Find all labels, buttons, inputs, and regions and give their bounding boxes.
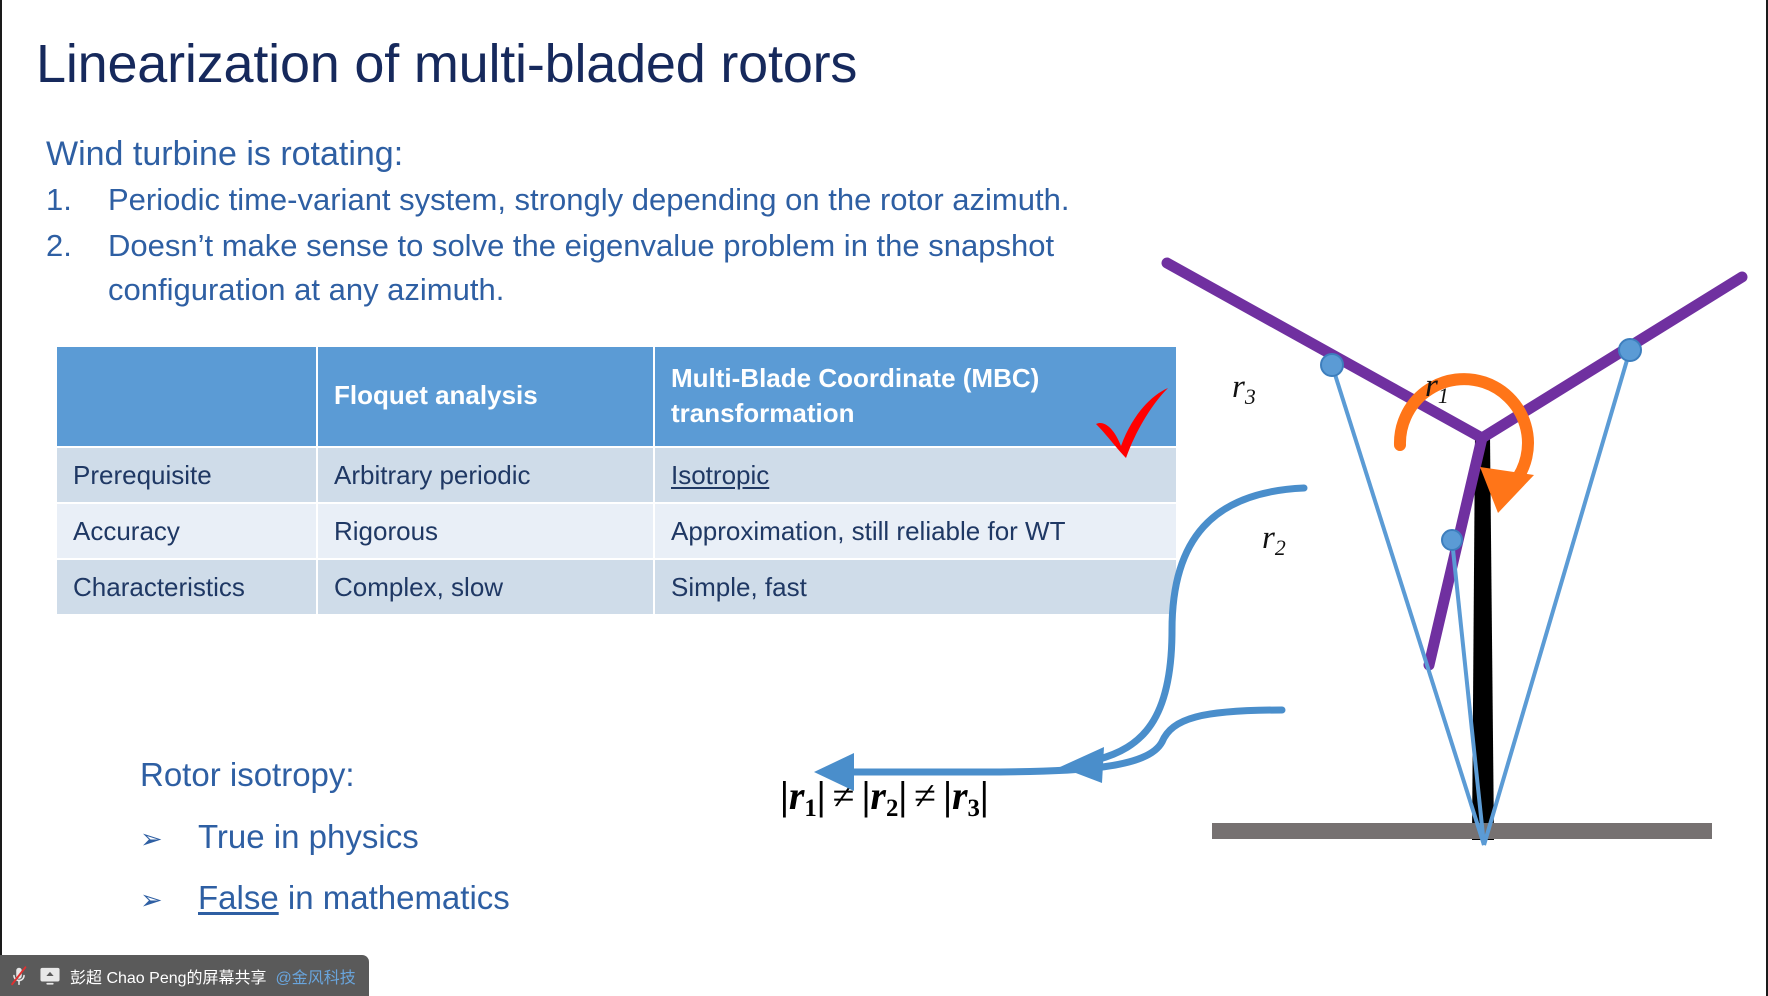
arrow-bullet-icon: ➢ (140, 823, 198, 855)
numbered-item-text: Periodic time-variant system, strongly d… (108, 178, 1156, 222)
numbered-item-text: Doesn’t make sense to solve the eigenval… (108, 224, 1156, 312)
page-title: Linearization of multi-bladed rotors (36, 36, 857, 93)
table-header-corner (57, 347, 316, 446)
blade-3 (1167, 263, 1482, 438)
table-cell-floquet: Complex, slow (318, 560, 653, 614)
slide-canvas: Linearization of multi-bladed rotors Win… (0, 0, 1768, 996)
table-cell-mbc-text: Isotropic (671, 460, 769, 490)
table-cell-floquet: Arbitrary periodic (318, 448, 653, 502)
screen-share-icon[interactable] (39, 966, 61, 986)
share-org-label: @金风科技 (276, 964, 356, 988)
table-cell-floquet: Rigorous (318, 504, 653, 558)
intro-block: Wind turbine is rotating: 1. Periodic ti… (46, 133, 1156, 312)
unused (1482, 275, 1490, 438)
turbine-svg (1142, 245, 1762, 885)
numbered-item-number: 1. (46, 178, 108, 222)
table-header-row: Floquet analysis Multi-Blade Coordinate … (57, 347, 1176, 446)
diagram-label-r2: r2 (1262, 520, 1286, 557)
numbered-item-number: 2. (46, 224, 108, 312)
turbine-diagram: r1 r2 r3 (1142, 245, 1762, 885)
table-header-floquet: Floquet analysis (318, 347, 653, 446)
node-r2 (1442, 530, 1462, 550)
numbered-item: 1. Periodic time-variant system, strongl… (46, 178, 1156, 222)
share-user-label: 彭超 Chao Peng的屏幕共享 (70, 964, 267, 988)
diagram-label-r1: r1 (1425, 368, 1449, 405)
bullet-underlined-word: False (198, 879, 279, 916)
table-cell-label: Prerequisite (57, 448, 316, 502)
arrow-left-head (814, 753, 854, 791)
arrow-curve-head (1060, 747, 1104, 783)
node-r3 (1321, 354, 1343, 376)
table-row: Prerequisite Arbitrary periodic Isotropi… (57, 448, 1176, 502)
bullet-item-text: True in physics (198, 817, 419, 857)
table-cell-label: Characteristics (57, 560, 316, 614)
ground-bar (1212, 823, 1712, 839)
table-header-mbc: Multi-Blade Coordinate (MBC) transformat… (655, 347, 1176, 446)
numbered-item: 2. Doesn’t make sense to solve the eigen… (46, 224, 1156, 312)
table-row: Accuracy Rigorous Approximation, still r… (57, 504, 1176, 558)
radius-line-3 (1332, 365, 1484, 845)
arrow-bullet-icon: ➢ (140, 884, 198, 916)
intro-heading: Wind turbine is rotating: (46, 133, 1156, 176)
screen-share-bar[interactable]: 彭超 Chao Peng的屏幕共享 @金风科技 (0, 955, 369, 996)
comparison-table: Floquet analysis Multi-Blade Coordinate … (55, 345, 1178, 616)
node-r1 (1619, 339, 1641, 361)
table-cell-label: Accuracy (57, 504, 316, 558)
bullet-rest-text: True in physics (198, 818, 419, 855)
table-row: Characteristics Complex, slow Simple, fa… (57, 560, 1176, 614)
microphone-muted-icon[interactable] (8, 965, 30, 987)
diagram-label-r3: r3 (1232, 369, 1256, 406)
